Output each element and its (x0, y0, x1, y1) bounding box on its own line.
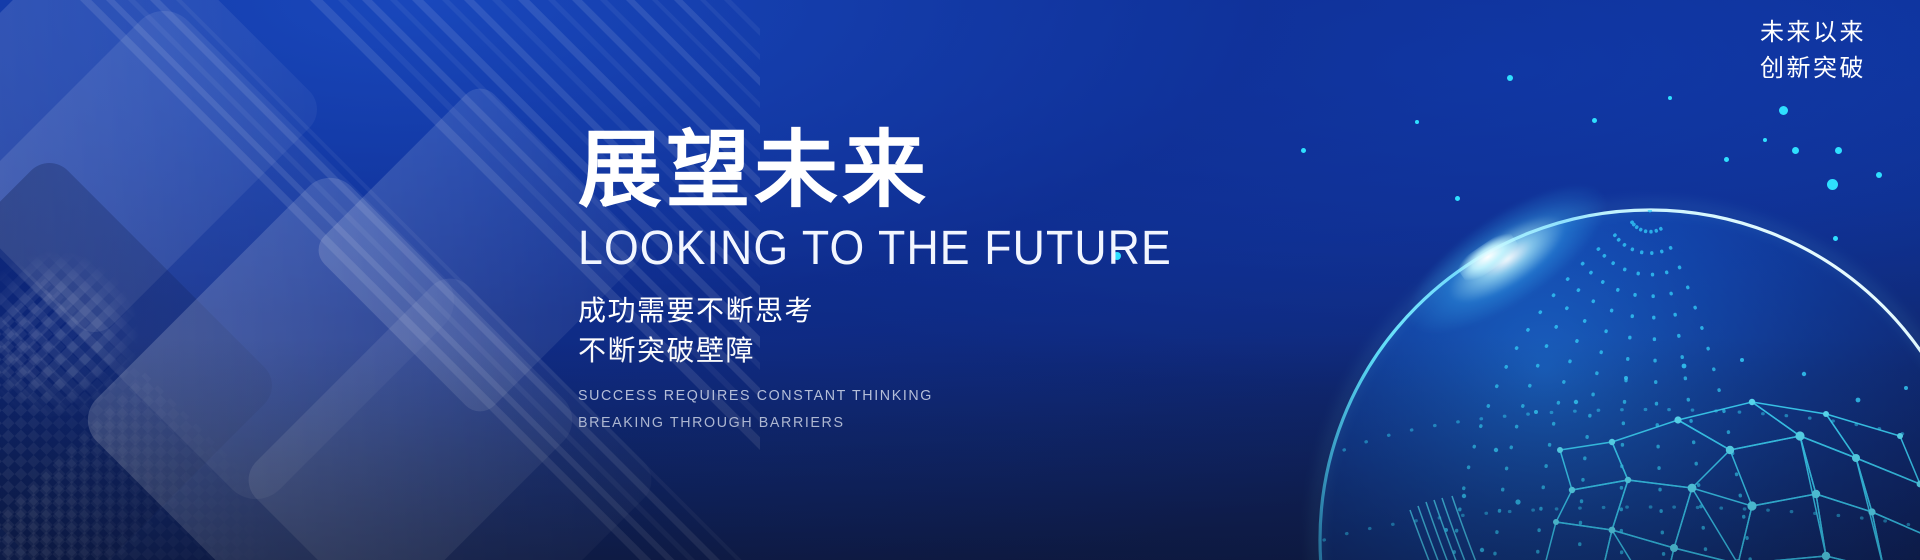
particle-dot (1835, 147, 1842, 154)
globe-limb-halo (1316, 206, 1920, 560)
subtitle-english: SUCCESS REQUIRES CONSTANT THINKING BREAK… (578, 383, 1110, 436)
particle-dot (1779, 106, 1788, 115)
flare-core-icon (1454, 228, 1522, 285)
particle-dot (1415, 120, 1419, 124)
globe-network-mesh (1444, 358, 1920, 560)
lens-flare-icon (1388, 159, 1627, 359)
subtitle-chinese-line-2: 不断突破壁障 (578, 331, 1138, 371)
subtitle-chinese: 成功需要不断思考 不断突破壁障 (578, 291, 1138, 371)
corner-slogan-line-2: 创新突破 (1760, 50, 1866, 86)
particle-dot (1827, 179, 1838, 190)
particle-dot (1592, 118, 1597, 123)
corner-slogan: 未来以来 创新突破 (1760, 14, 1866, 87)
banner-copy-block: 展望未来 LOOKING TO THE FUTURE 成功需要不断思考 不断突破… (578, 126, 1138, 436)
hero-banner: 展望未来 LOOKING TO THE FUTURE 成功需要不断思考 不断突破… (0, 0, 1920, 560)
particle-dot (1792, 147, 1799, 154)
subtitle-english-line-1: SUCCESS REQUIRES CONSTANT THINKING (578, 383, 1110, 409)
particle-dot (1668, 96, 1672, 100)
geo-dot-grid (0, 215, 175, 455)
particle-dot (1507, 75, 1513, 81)
particle-dot (1724, 157, 1729, 162)
subtitle-chinese-line-1: 成功需要不断思考 (578, 291, 1138, 331)
corner-slogan-line-1: 未来以来 (1760, 14, 1866, 50)
globe-meridians (1324, 210, 1920, 560)
globe-limb-glow (1320, 210, 1920, 560)
geo-checker-grid (0, 372, 308, 560)
network-globe (1260, 150, 1920, 560)
particle-dot (1876, 172, 1882, 178)
geo-slab (0, 152, 283, 560)
particle-dot (1301, 148, 1306, 153)
particle-dot (1833, 236, 1838, 241)
geo-slab (75, 165, 584, 560)
geo-checker-grid (0, 278, 222, 560)
subtitle-english-line-2: BREAKING THROUGH BARRIERS (578, 410, 1110, 436)
globe-wireframe-svg (1260, 150, 1920, 560)
globe-body (1320, 210, 1920, 560)
headline-english: LOOKING TO THE FUTURE (578, 223, 1099, 275)
particle-dot (1763, 138, 1767, 142)
particle-dot (1455, 196, 1460, 201)
headline-chinese: 展望未来 (578, 126, 1138, 215)
geo-slab (0, 0, 328, 343)
geo-slab (0, 0, 468, 513)
